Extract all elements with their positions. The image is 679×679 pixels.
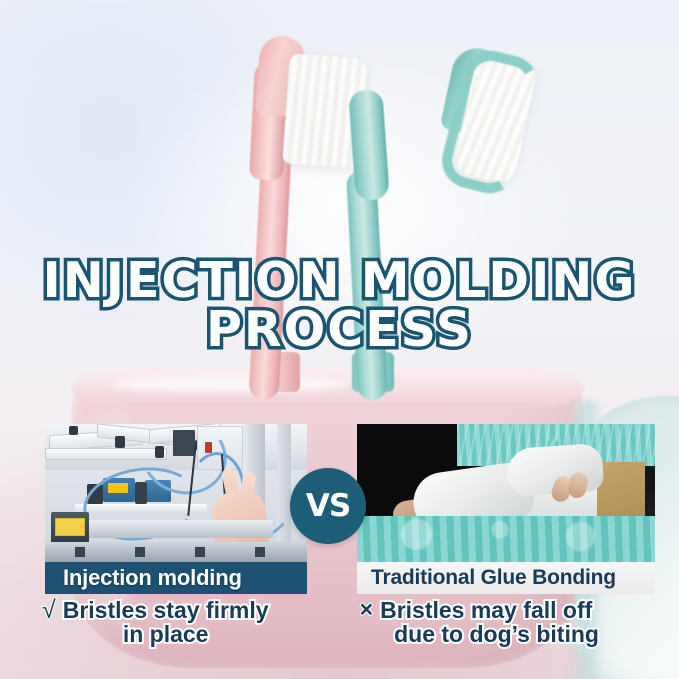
pink-cup-highlight <box>110 376 350 392</box>
left-process-label: Injection molding <box>63 565 242 591</box>
benefit-right-text: Bristles may fall off due to dog’s bitin… <box>380 598 599 647</box>
rail-bolt <box>135 547 145 557</box>
benefit-left-line-1: Bristles stay firmly <box>63 597 269 623</box>
promo-image: INJECTION MOLDING PROCESS <box>0 0 679 679</box>
benefit-captions: √ Bristles stay firmly in place × Bristl… <box>0 598 679 647</box>
benefit-left-text: Bristles stay firmly in place <box>63 598 269 647</box>
right-process-label: Traditional Glue Bonding <box>371 566 616 590</box>
machine-warning-label <box>55 518 85 536</box>
vs-badge: VS <box>290 468 366 544</box>
rail-bolt <box>255 547 265 557</box>
vs-label: VS <box>306 488 350 524</box>
machine-base-rail <box>45 542 307 562</box>
benefit-left-line-2: in place <box>63 622 269 646</box>
comparison-panel-left: Injection molding <box>45 424 307 594</box>
headline-line-1: INJECTION MOLDING <box>0 258 679 303</box>
comparison-panel-right: dV Traditional Glue Bonding <box>357 424 655 594</box>
benefit-right: × Bristles may fall off due to dog’s bit… <box>352 598 679 647</box>
machine-fitting <box>115 436 125 448</box>
glue-bonding-photo: dV <box>357 424 655 562</box>
benefit-right-line-1: Bristles may fall off <box>380 597 592 623</box>
check-icon: √ <box>42 598 56 624</box>
rail-bolt <box>195 547 205 557</box>
machine-fitting <box>69 426 78 435</box>
right-process-label-bar: Traditional Glue Bonding <box>357 562 655 594</box>
page-title: INJECTION MOLDING PROCESS <box>0 258 679 352</box>
left-process-label-bar: Injection molding <box>45 562 307 594</box>
benefit-left: √ Bristles stay firmly in place <box>0 598 352 647</box>
cross-icon: × <box>360 598 373 621</box>
benefit-right-line-2: due to dog’s biting <box>380 622 599 646</box>
headline-line-2: PROCESS <box>0 307 679 352</box>
rail-bolt <box>75 547 85 557</box>
toothbrush-pile-bottom <box>357 516 655 562</box>
injection-molding-photo <box>45 424 307 562</box>
